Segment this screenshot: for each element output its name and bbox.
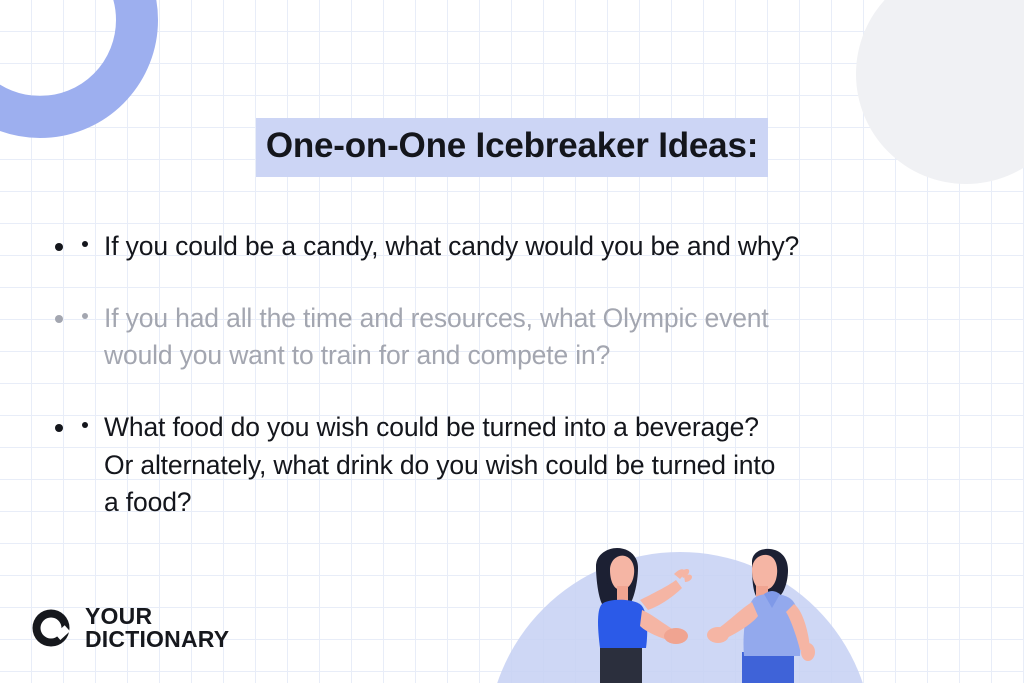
list-item: What food do you wish could be turned in… xyxy=(78,409,958,522)
list-item-line: If you had all the time and resources, w… xyxy=(104,300,958,338)
slide-canvas: One-on-One Icebreaker Ideas: If you coul… xyxy=(0,0,1024,683)
list-item-line: If you could be a candy, what candy woul… xyxy=(104,228,958,266)
logo-line-dictionary: DICTIONARY xyxy=(85,628,229,650)
two-people-shaking-hands-illustration xyxy=(556,548,856,683)
page-title: One-on-One Icebreaker Ideas: xyxy=(256,118,768,177)
logo-wordmark: YOUR DICTIONARY xyxy=(85,605,229,650)
list-item-line: Or alternately, what drink do you wish c… xyxy=(104,447,958,485)
bullet-dot-icon xyxy=(82,313,88,319)
logo-line-your: YOUR xyxy=(85,605,229,627)
bullet-dot-icon xyxy=(82,422,88,428)
icebreaker-list: If you could be a candy, what candy woul… xyxy=(78,228,958,522)
title-container: One-on-One Icebreaker Ideas: xyxy=(0,118,1024,177)
list-item-line: a food? xyxy=(104,484,958,522)
q-ring-icon xyxy=(30,607,72,649)
list-item-line: would you want to train for and compete … xyxy=(104,337,958,375)
list-item: If you had all the time and resources, w… xyxy=(78,300,958,375)
list-item: If you could be a candy, what candy woul… xyxy=(78,228,958,266)
list-item-line: What food do you wish could be turned in… xyxy=(104,409,958,447)
yourdictionary-logo[interactable]: YOUR DICTIONARY xyxy=(30,605,229,650)
bullet-dot-icon xyxy=(82,241,88,247)
woman-figure xyxy=(596,548,692,683)
man-figure xyxy=(707,549,815,683)
